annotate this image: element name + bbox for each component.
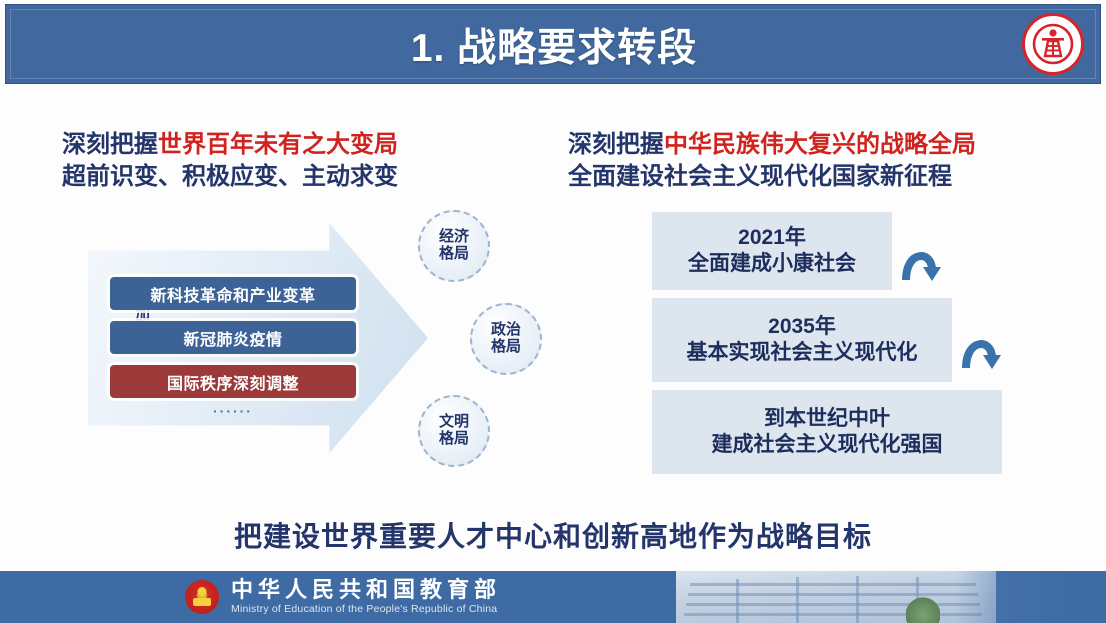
outcome-circle-0-line1: 经济 [439, 228, 469, 245]
page-title: 1. 战略要求转段 [6, 5, 1102, 85]
factor-bar-1: 新冠肺炎疫情 [110, 321, 356, 354]
institution-emblem-icon [1022, 13, 1084, 75]
bottom-statement: 把建设世界重要人才中心和创新高地作为战略目标 [0, 515, 1106, 555]
slide-canvas: 1. 战略要求转段 深刻把握世界百年未有之大变局 超前识变、积极应变、主动求变 … [0, 0, 1106, 623]
tree-decoration [906, 597, 940, 623]
outcome-circle-0-line2: 格局 [439, 245, 469, 262]
outcome-circle-2: 文明 格局 [418, 395, 490, 467]
outcome-circle-1-line1: 政治 [491, 321, 521, 338]
slide-footer: 中华人民共和国教育部 Ministry of Education of the … [0, 571, 1106, 623]
outcome-circle-2-line2: 格局 [439, 430, 469, 447]
outcome-circle-1-line2: 格局 [491, 338, 521, 355]
left-heading-highlight: 世界百年未有之大变局 [158, 131, 398, 158]
right-heading: 深刻把握中华民族伟大复兴的战略全局 全面建设社会主义现代化国家新征程 [568, 129, 976, 193]
ministry-building-photo [676, 571, 996, 623]
ministry-name-cn: 中华人民共和国教育部 [231, 578, 501, 602]
milestone-box-0-text: 全面建成小康社会 [688, 251, 856, 277]
milestone-box-1-year: 2035年 [768, 314, 836, 340]
left-heading-line2: 超前识变、积极应变、主动求变 [62, 161, 398, 193]
milestone-box-0: 2021年 全面建成小康社会 [652, 212, 892, 290]
milestone-box-2-text: 建成社会主义现代化强国 [712, 432, 943, 458]
factor-bar-0: 新科技革命和产业变革 [110, 277, 356, 310]
right-heading-highlight: 中华民族伟大复兴的战略全局 [664, 131, 976, 158]
milestone-box-2: 到本世纪中叶 建成社会主义现代化强国 [652, 390, 1002, 474]
curved-down-arrow-icon-0 [900, 238, 948, 282]
footer-fade-overlay [956, 571, 1106, 623]
outcome-circle-2-line1: 文明 [439, 413, 469, 430]
ministry-brand: 中华人民共和国教育部 Ministry of Education of the … [185, 576, 501, 618]
national-emblem-icon [185, 580, 219, 614]
slide-header: 1. 战略要求转段 [5, 4, 1101, 84]
milestone-box-2-year: 到本世纪中叶 [764, 406, 890, 432]
right-heading-prefix: 深刻把握 [568, 131, 664, 158]
left-heading-prefix: 深刻把握 [62, 131, 158, 158]
left-diagram: 叠加态 新科技革命和产业变革 新冠肺炎疫情 国际秩序深刻调整 ······ 经济… [60, 205, 530, 470]
milestone-panel: 2021年 全面建成小康社会 2035年 基本实现社会主义现代化 到本世纪中叶 … [560, 208, 1100, 478]
curved-down-arrow-icon-1 [960, 326, 1008, 370]
outcome-circle-0: 经济 格局 [418, 210, 490, 282]
milestone-box-1-text: 基本实现社会主义现代化 [687, 340, 918, 366]
milestone-box-1: 2035年 基本实现社会主义现代化 [652, 298, 952, 382]
ministry-name-en: Ministry of Education of the People's Re… [231, 603, 501, 617]
right-heading-line1: 深刻把握中华民族伟大复兴的战略全局 [568, 129, 976, 161]
factor-bar-2: 国际秩序深刻调整 [110, 365, 356, 398]
milestone-box-0-year: 2021年 [738, 225, 806, 251]
right-heading-line2: 全面建设社会主义现代化国家新征程 [568, 161, 976, 193]
left-heading-line1: 深刻把握世界百年未有之大变局 [62, 129, 398, 161]
ellipsis-dots: ······ [110, 403, 356, 419]
outcome-circle-1: 政治 格局 [470, 303, 542, 375]
left-heading: 深刻把握世界百年未有之大变局 超前识变、积极应变、主动求变 [62, 129, 398, 193]
